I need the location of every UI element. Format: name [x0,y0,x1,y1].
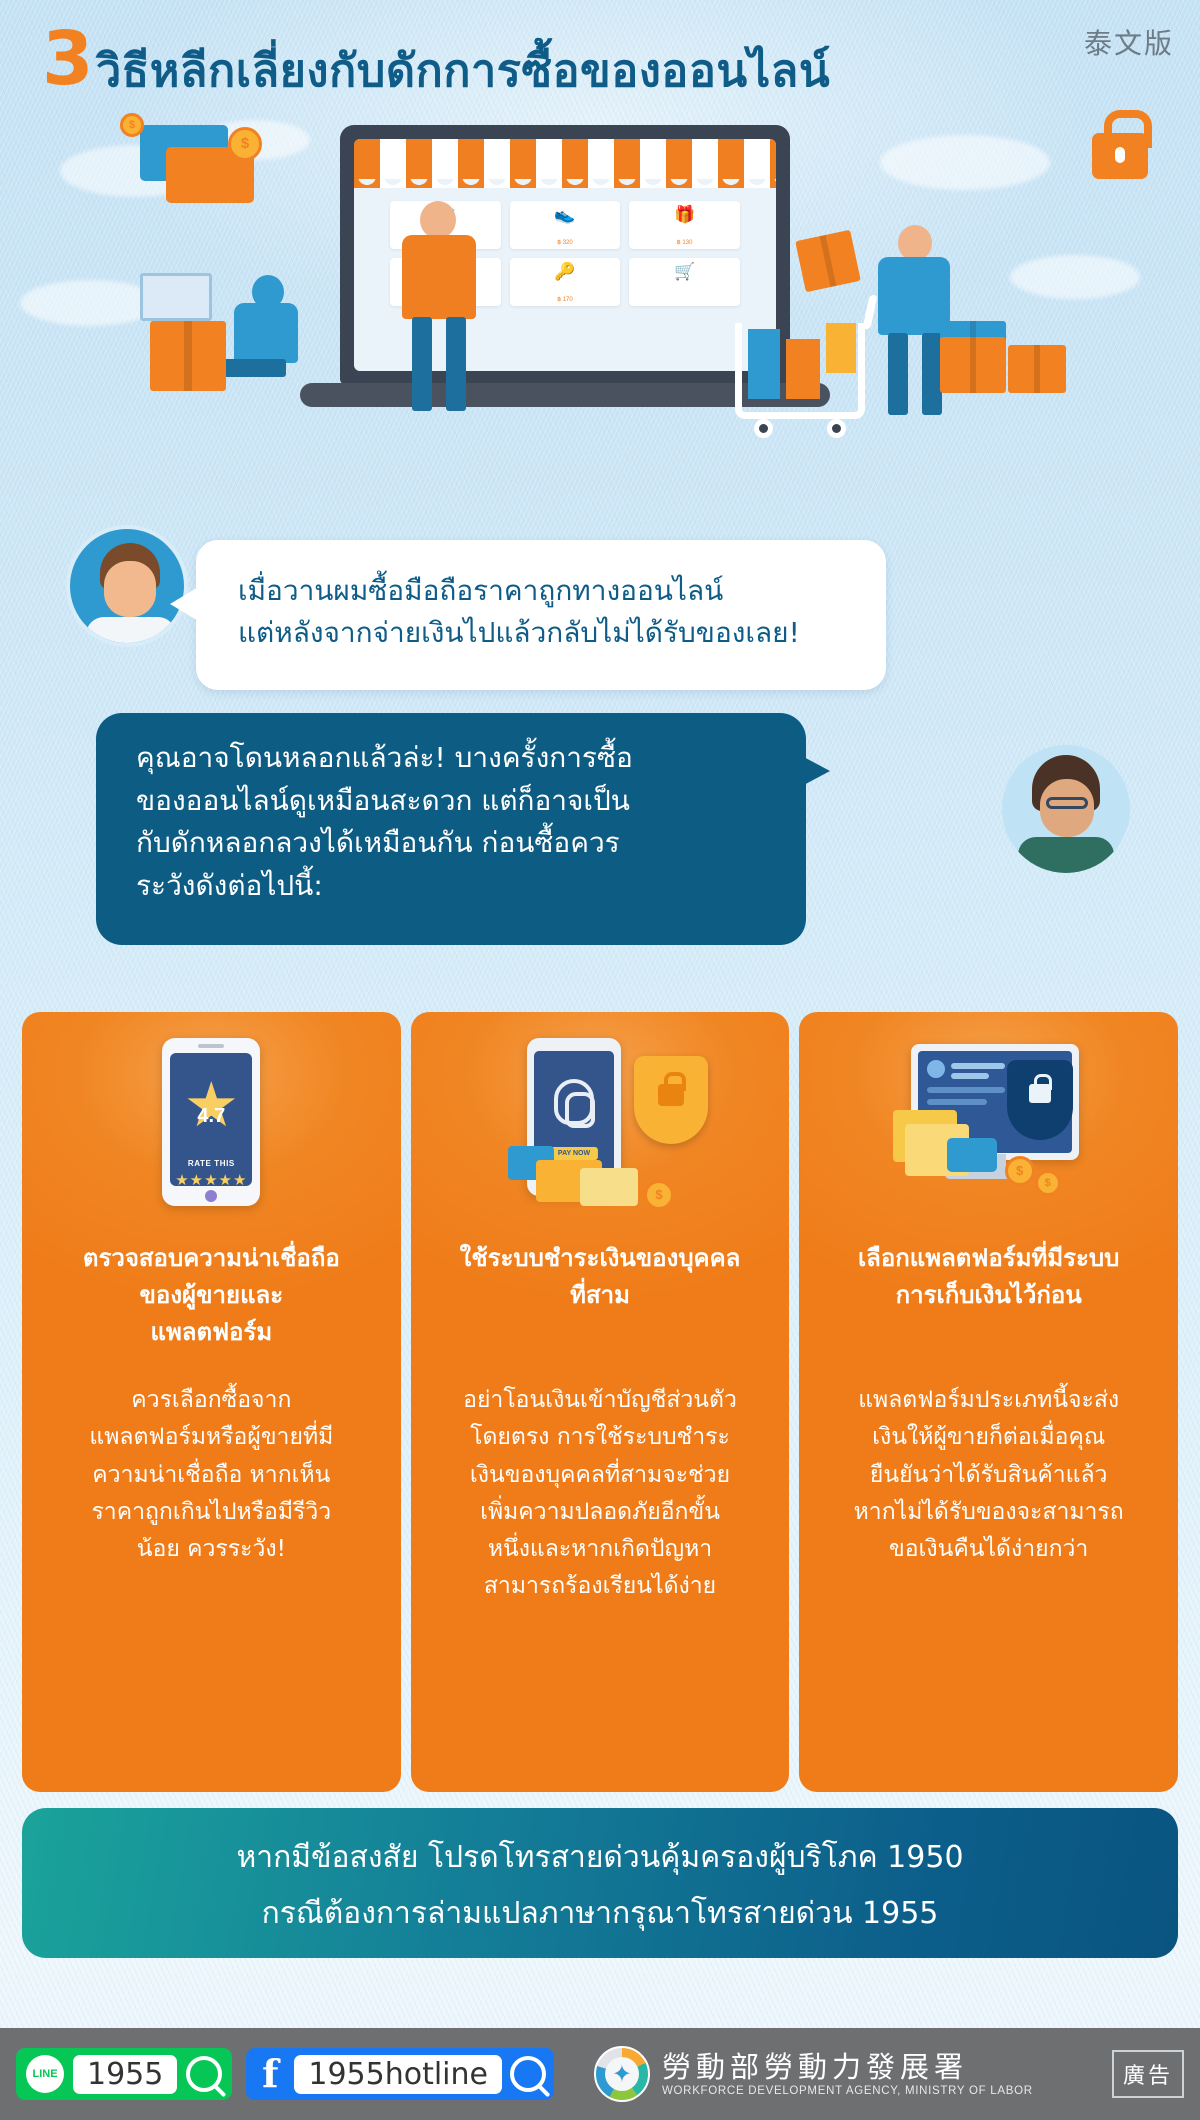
card-body-line: หากไม่ได้รับของจะสามารถ [817,1494,1160,1531]
line-logo-icon: LINE [26,2055,64,2093]
card-title-line: แพลตฟอร์ม [38,1314,385,1351]
phone-shield-payment-icon: PAY NOW $ [411,1038,790,1228]
avatar-woman [1002,745,1130,873]
card-body-line: สามารถร้องเรียนได้ง่าย [429,1568,772,1605]
hotline-line-2: กรณีต้องการล่ามแปลภาษากรุณาโทรสายด่วน 19… [22,1890,1178,1937]
shield-icon [1007,1060,1073,1140]
line-id-value: 1955 [73,2055,177,2094]
phone-notch [198,1044,224,1048]
phone-shape: ★ 4.7 RATE THIS ★★★★★ [162,1038,260,1206]
card-title: ใช้ระบบชำระเงินของบุคคล ที่สาม [427,1240,774,1314]
cart-item [786,339,820,399]
text-line-bar [927,1099,987,1105]
coin-icon: $ [228,127,262,161]
person-leg [888,333,908,415]
tip-card-3[interactable]: $ $ เลือกแพลตฟอร์มที่มีระบบ การเก็บเงินไ… [799,1012,1178,1792]
card-body-line: แพลตฟอร์มประเภทนี้จะส่ง [817,1382,1160,1419]
wda-seal-icon: ✦ [594,2046,650,2102]
card-body-line: ขอเงินคืนได้ง่ายกว่า [817,1531,1160,1568]
card-body-line: หนึ่งและหากเกิดปัญหา [429,1531,772,1568]
facebook-id-value: 1955hotline [294,2055,502,2094]
title-number: 3 [42,22,94,96]
package-box [795,230,861,293]
product-tile: 🔑 ฿ 170 [510,258,621,306]
person-torso [234,303,298,363]
bubble-tail [170,586,200,622]
hero-illustration: $ $ 👕 ฿ 210 👟 ฿ 320 🎁 [0,105,1200,495]
cart-wheel [827,419,846,438]
card-body-line: ควรเลือกซื้อจาก [40,1382,383,1419]
tip-card-2[interactable]: PAY NOW $ ใช้ระบบชำระเงินของบุคคล ที่สาม… [411,1012,790,1792]
bubble-line: แต่หลังจากจ่ายเงินไปแล้วกลับไม่ได้รับของ… [238,612,862,654]
shield-icon [634,1056,708,1144]
bubble-line: คุณอาจโดนหลอกแล้วล่ะ! บางครั้งการซื้อ [136,737,780,780]
card-title-line: ตรวจสอบความน่าเชื่อถือ [38,1240,385,1277]
product-price: ฿ 320 [557,239,573,246]
card-body-line: แพลตฟอร์มหรือผู้ขายที่มี [40,1419,383,1456]
cart-item [748,329,780,399]
product-tile: 👟 ฿ 320 [510,201,621,249]
shopping-cart-icon [735,323,865,419]
credit-card-icon [947,1138,997,1172]
coin-icon: $ [1005,1156,1035,1186]
monitor-shield-escrow-icon: $ $ [799,1038,1178,1228]
card-title-line: ที่สาม [427,1277,774,1314]
agency-branding: ✦ 勞動部勞動力發展署 WORKFORCE DEVELOPMENT AGENCY… [594,2046,1033,2102]
card-body-line: เพิ่มความปลอดภัยอีกขั้น [429,1494,772,1531]
phone-home-button [205,1190,217,1202]
avatar-shirt [1018,837,1114,873]
card-body-line: ยืนยันว่าได้รับสินค้าแล้ว [817,1457,1160,1494]
card-title: ตรวจสอบความน่าเชื่อถือ ของผู้ขายและ แพลต… [38,1240,385,1352]
agency-names: 勞動部勞動力發展署 WORKFORCE DEVELOPMENT AGENCY, … [662,2051,1033,2096]
cart-item [826,323,856,373]
person-leg [922,333,942,415]
coin-icon: $ [120,113,144,137]
shop-awning [354,139,776,179]
card-body-line: ราคาถูกเกินไปหรือมีรีวิว [40,1494,383,1531]
tips-card-list: ★ 4.7 RATE THIS ★★★★★ ตรวจสอบความน่าเชื่… [22,1012,1178,1792]
product-price: ฿ 130 [677,239,693,246]
bubble-line: ระวังดังต่อไปนี้: [136,865,780,908]
key-icon: 🔑 [554,263,575,280]
search-icon [510,2056,546,2092]
card-body-line: ความน่าเชื่อถือ หากเห็น [40,1457,383,1494]
cart-icon: 🛒 [674,263,695,280]
search-button[interactable] [502,2048,554,2100]
card-body-line: อย่าโอนเงินเข้าบัญชีส่วนตัว [429,1382,772,1419]
hotline-banner: หากมีข้อสงสัย โปรดโทรสายด่วนคุ้มครองผู้บ… [22,1808,1178,1958]
card-title-line: ใช้ระบบชำระเงินของบุคคล [427,1240,774,1277]
product-tile: 🎁 ฿ 130 [629,201,740,249]
avatar-face [104,561,156,617]
facebook-contact-chip[interactable]: f 1955hotline [246,2048,554,2100]
lock-icon [658,1084,684,1106]
search-icon[interactable] [186,2056,222,2092]
cloud-shape [20,280,160,326]
bubble-text: เมื่อวานผมซื้อมือถือราคาถูกทางออนไลน์ แต… [238,570,862,654]
bubble-text: คุณอาจโดนหลอกแล้วล่ะ! บางครั้งการซื้อ ขอ… [136,737,780,907]
phone-screen: ★ 4.7 RATE THIS ★★★★★ [170,1053,252,1186]
agency-name-en: WORKFORCE DEVELOPMENT AGENCY, MINISTRY O… [662,2085,1033,2097]
phone-rating-icon: ★ 4.7 RATE THIS ★★★★★ [22,1038,401,1228]
card-title: เลือกแพลตฟอร์มที่มีระบบ การเก็บเงินไว้ก่… [815,1240,1162,1314]
tip-card-1[interactable]: ★ 4.7 RATE THIS ★★★★★ ตรวจสอบความน่าเชื่… [22,1012,401,1792]
person-shopper [396,201,486,411]
card-body: ควรเลือกซื้อจาก แพลตฟอร์มหรือผู้ขายที่มี… [40,1382,383,1568]
avatar-shirt [86,617,176,647]
facebook-icon: f [246,2055,294,2093]
card-body: อย่าโอนเงินเข้าบัญชีส่วนตัว โดยตรง การใช… [429,1382,772,1606]
person-head [898,225,932,261]
cloud-shape [880,135,1050,190]
seal-mark: ✦ [596,2048,648,2100]
shoe-icon: 👟 [554,206,575,223]
credit-card-icon [580,1168,638,1206]
gift-icon: 🎁 [674,206,695,223]
small-laptop-icon [140,273,212,321]
rating-stars-icon: ★★★★★ [170,1171,252,1189]
padlock-icon [1092,133,1148,179]
coin-icon: $ [1035,1170,1061,1196]
page-title: วิธีหลีกเลี่ยงกับดักการซื้อของออนไลน์ [96,34,830,106]
card-title-line: ของผู้ขายและ [38,1277,385,1314]
person-torso [402,235,476,319]
package-box [940,337,1006,393]
user-avatar-icon [927,1060,945,1078]
header: 3 วิธีหลีกเลี่ยงกับดักการซื้อของออนไลน์ … [0,0,1200,110]
pay-now-button[interactable]: PAY NOW [550,1147,598,1160]
package-box [1008,345,1066,393]
cloud-shape [1010,255,1140,299]
agency-name-zh: 勞動部勞動力發展署 [662,2051,1033,2084]
text-line-bar [951,1063,1005,1069]
ad-badge: 廣告 [1112,2050,1184,2098]
person-head [420,201,456,239]
bubble-line: ของออนไลน์ดูเหมือนสะดวก แต่ก็อาจเป็น [136,780,780,823]
product-price: ฿ 170 [557,296,573,303]
card-body-line: เงินให้ผู้ขายก็ต่อเมื่อคุณ [817,1419,1160,1456]
hotline-line-1: หากมีข้อสงสัย โปรดโทรสายด่วนคุ้มครองผู้บ… [22,1834,1178,1881]
rating-label: RATE THIS [170,1159,252,1168]
bubble-tail [800,755,830,787]
text-line-bar [951,1073,989,1079]
speech-bubble-man: เมื่อวานผมซื้อมือถือราคาถูกทางออนไลน์ แต… [196,540,886,690]
footer-bar: LINE 1955 f 1955hotline ✦ 勞動部勞動力發展署 WORK… [0,2028,1200,2120]
bubble-line: กับดักหลอกลวงได้เหมือนกัน ก่อนซื้อควร [136,822,780,865]
card-body-line: โดยตรง การใช้ระบบชำระ [429,1419,772,1456]
text-line-bar [927,1087,1005,1093]
card-body-line: เงินของบุคคลที่สามจะช่วย [429,1457,772,1494]
avatar-glasses [1046,797,1088,809]
language-badge: 泰文版 [1084,22,1174,62]
package-box [150,321,226,391]
rating-value: 4.7 [197,1105,225,1128]
product-tile: 🛒 [629,258,740,306]
infographic-page: 3 วิธีหลีกเลี่ยงกับดักการซื้อของออนไลน์ … [0,0,1200,2120]
card-body-line: น้อย ควรระวัง! [40,1531,383,1568]
bubble-line: เมื่อวานผมซื้อมือถือราคาถูกทางออนไลน์ [238,570,862,612]
fingerprint-icon [554,1079,594,1125]
card-title-line: เลือกแพลตฟอร์มที่มีระบบ [815,1240,1162,1277]
card-body: แพลตฟอร์มประเภทนี้จะส่ง เงินให้ผู้ขายก็ต… [817,1382,1160,1568]
cart-wheel [754,419,773,438]
speech-bubble-woman: คุณอาจโดนหลอกแล้วล่ะ! บางครั้งการซื้อ ขอ… [96,713,806,945]
person-leg [412,317,432,411]
person-leg [446,317,466,411]
lock-icon [1029,1084,1051,1103]
card-title-line: การเก็บเงินไว้ก่อน [815,1277,1162,1314]
coin-icon: $ [644,1180,674,1210]
line-contact-chip[interactable]: LINE 1955 [16,2048,232,2100]
